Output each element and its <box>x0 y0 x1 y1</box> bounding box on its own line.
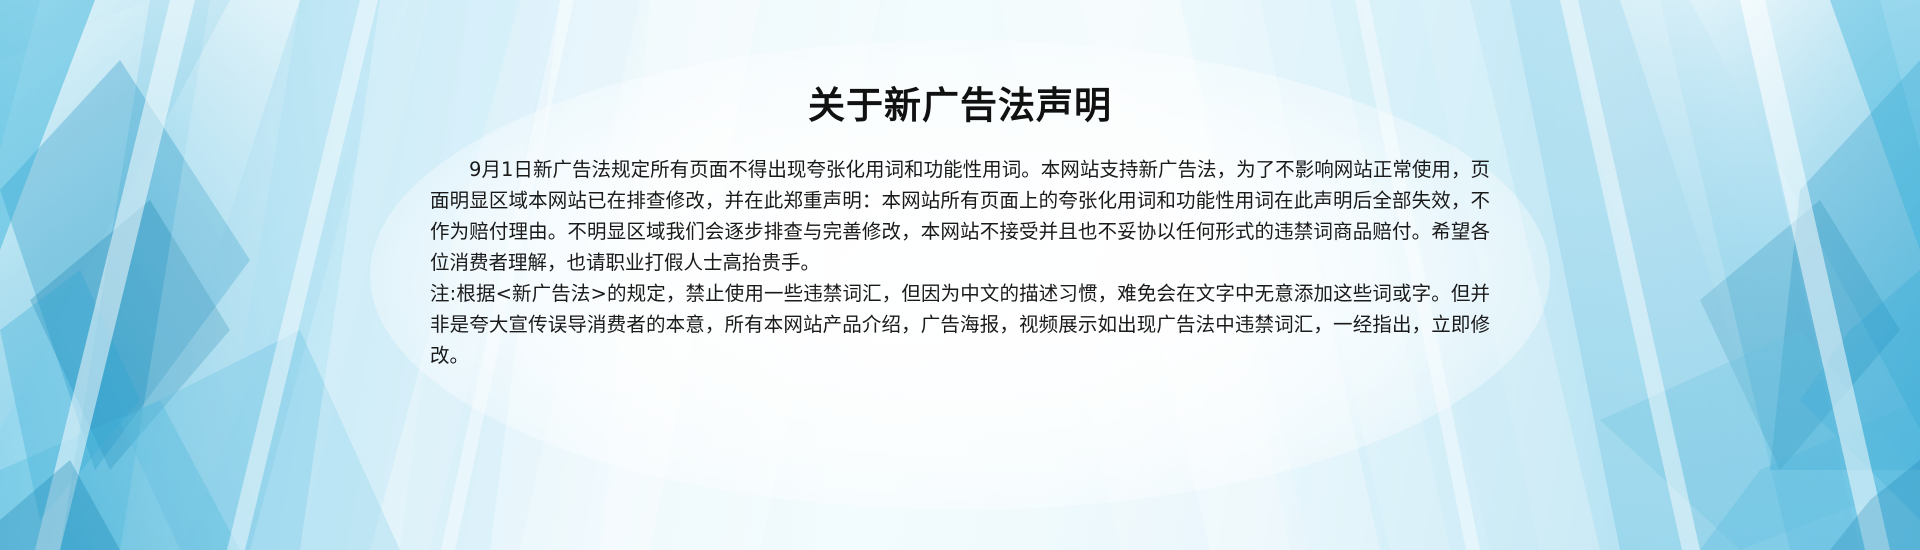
statement-body: 9月1日新广告法规定所有页面不得出现夸张化用词和功能性用词。本网站支持新广告法，… <box>430 154 1490 371</box>
statement-paragraph-2: 注:根据<新广告法>的规定，禁止使用一些违禁词汇，但因为中文的描述习惯，难免会在… <box>430 278 1490 371</box>
page-title: 关于新广告法声明 <box>430 84 1490 128</box>
statement-content: 关于新广告法声明 9月1日新广告法规定所有页面不得出现夸张化用词和功能性用词。本… <box>430 0 1490 371</box>
advertising-law-statement-banner: 关于新广告法声明 9月1日新广告法规定所有页面不得出现夸张化用词和功能性用词。本… <box>0 0 1920 550</box>
statement-paragraph-1: 9月1日新广告法规定所有页面不得出现夸张化用词和功能性用词。本网站支持新广告法，… <box>430 154 1490 278</box>
